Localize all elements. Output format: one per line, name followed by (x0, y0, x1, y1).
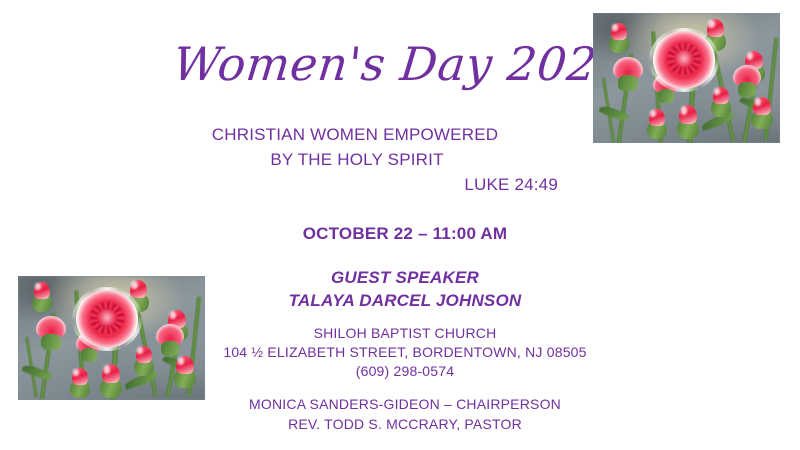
theme-line-1: CHRISTIAN WOMEN EMPOWERED (150, 122, 560, 147)
carnation-photo-bottom-left (18, 276, 205, 400)
carnation-bud (677, 105, 699, 139)
carnation-bud (32, 282, 52, 312)
theme-block: CHRISTIAN WOMEN EMPOWERED BY THE HOLY SP… (150, 122, 560, 197)
carnation-bud (70, 368, 90, 398)
carnation-half-open (613, 57, 643, 91)
carnation-bud (134, 346, 154, 376)
carnation-scene (18, 276, 205, 400)
carnation-bud (174, 356, 196, 388)
carnation-half-open (36, 316, 66, 350)
theme-line-2: BY THE HOLY SPIRIT (150, 147, 560, 172)
officers-block: MONICA SANDERS-GIDEON – CHAIRPERSON REV.… (0, 394, 800, 434)
carnation-bloom (76, 290, 138, 348)
carnation-bloom (653, 31, 715, 89)
womens-day-flyer: Women's Day 2023 CHRISTIAN WOMEN EMPOWER… (0, 0, 800, 450)
carnation-half-open (156, 324, 184, 356)
pastor-name: REV. TODD S. MCCRARY, PASTOR (0, 414, 800, 434)
carnation-half-open (733, 65, 761, 97)
carnation-bud (609, 23, 629, 53)
event-datetime: OCTOBER 22 – 11:00 AM (0, 224, 800, 244)
scripture-reference: LUKE 24:49 (150, 172, 560, 197)
carnation-photo-top-right (593, 13, 780, 143)
carnation-scene (593, 13, 780, 143)
carnation-bud (711, 87, 731, 117)
carnation-bud (647, 109, 667, 139)
carnation-bud (100, 364, 122, 398)
carnation-bud (751, 97, 773, 129)
